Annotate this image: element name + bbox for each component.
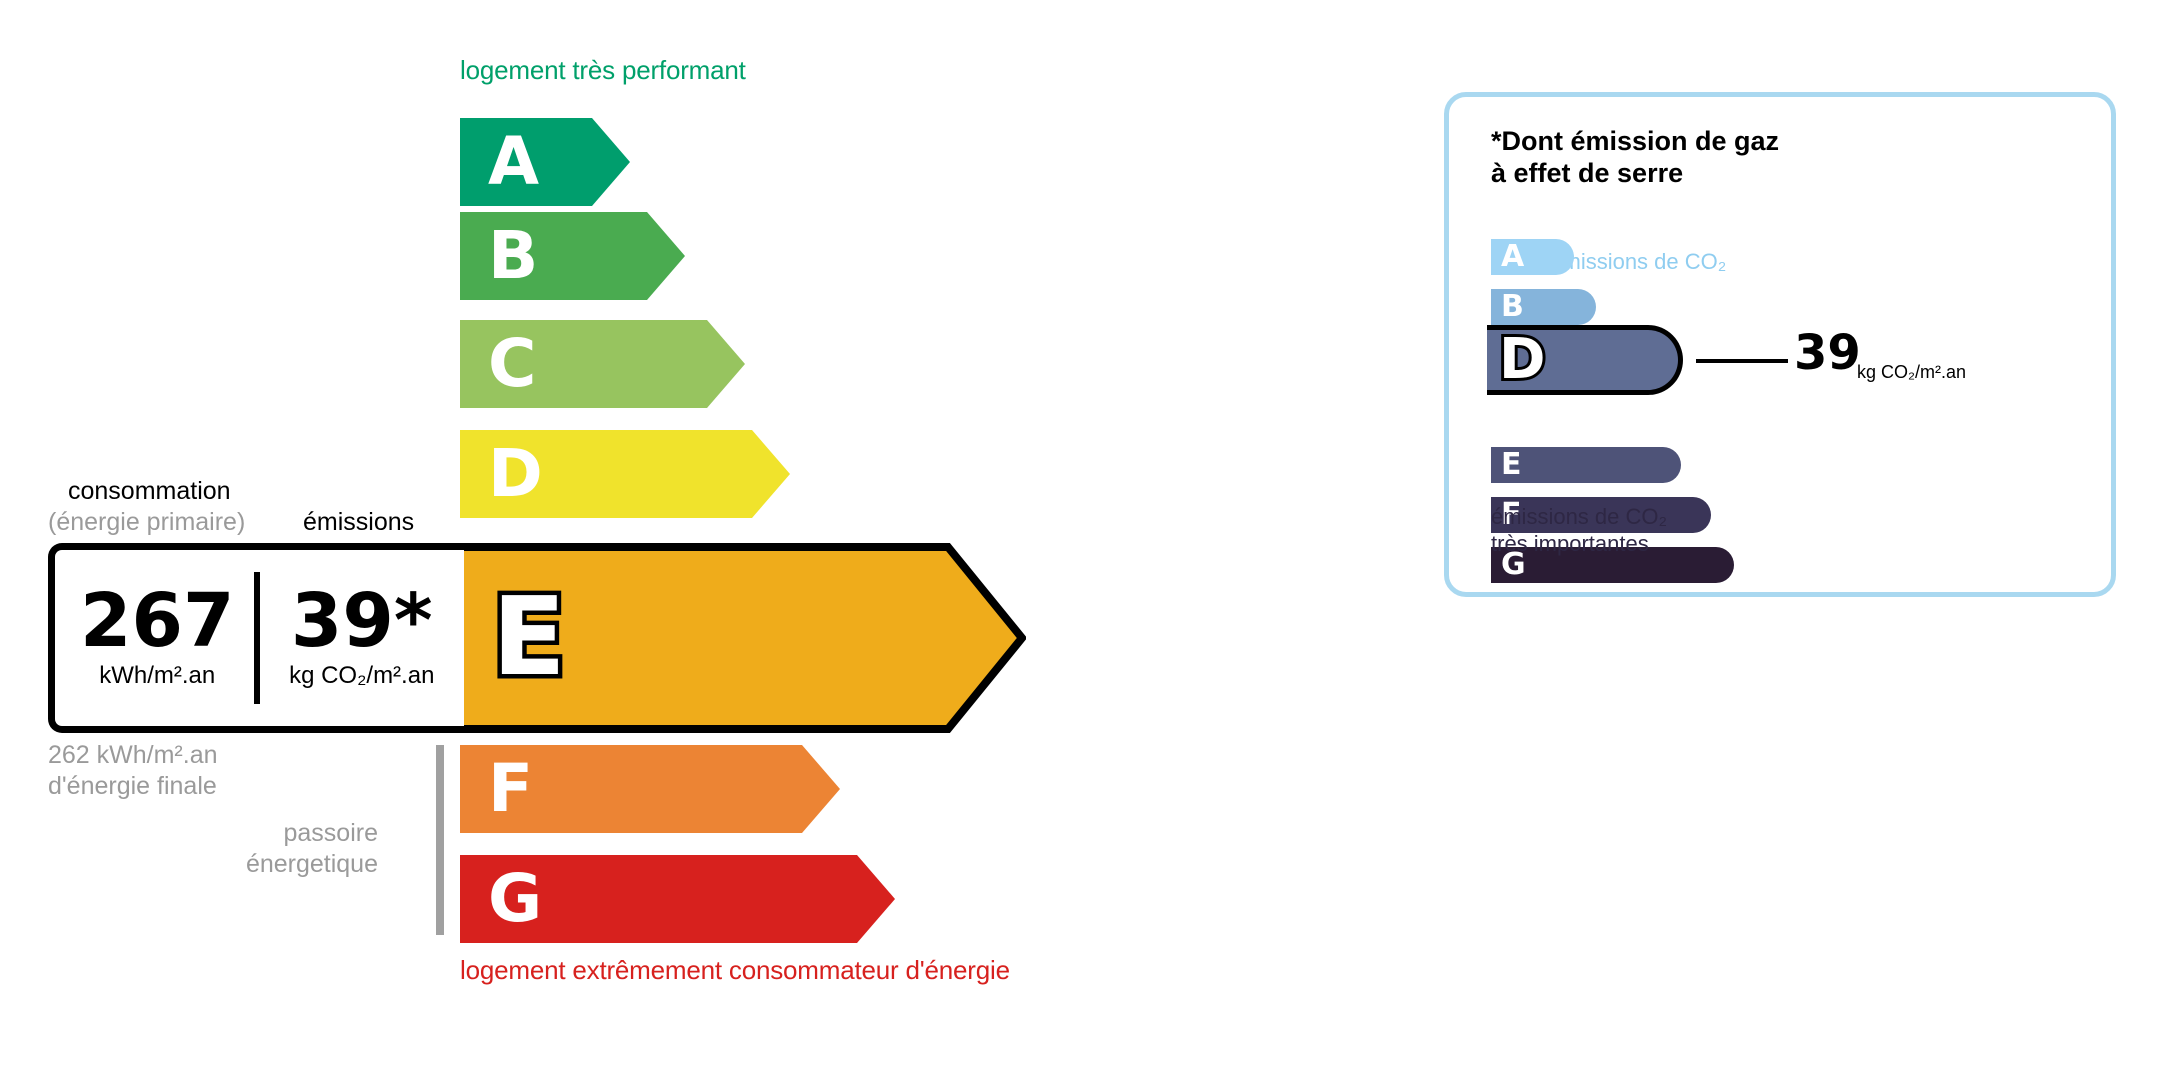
energy-bar-letter-b: B [488,223,538,289]
energy-bar-letter-d: D [488,441,543,507]
co2-bottom-caption-line1: émissions de CO₂ [1491,504,1667,531]
energy-bar-letter-f: F [488,756,533,822]
co2-selected-value: 39 [1794,329,1861,377]
energy-consumption-value: 267 [80,586,234,656]
co2-panel-title-line2: à effet de serre [1491,157,1779,189]
selected-class-letter: E [492,584,566,692]
label-energie-primaire: (énergie primaire) [48,508,245,537]
energy-chart-bottom-caption: logement extrêmement consommateur d'éner… [460,955,1010,986]
co2-panel-title: *Dont émission de gaz à effet de serre [1491,125,1779,190]
energy-bar-d: D [460,430,790,518]
co2-emissions-panel: *Dont émission de gaz à effet de serre p… [1444,92,2116,597]
energy-performance-chart: logement très performant ABCDFG consomma… [0,0,1400,1079]
energy-bar-letter-a: A [488,129,539,195]
selected-class-arrow: E [458,543,1026,733]
passoire-note-line2: énergetique [180,849,378,880]
co2-bar-e: E [1491,447,1681,483]
co2-selected-class-letter: D [1499,332,1545,388]
co2-panel-title-line1: *Dont émission de gaz [1491,125,1779,157]
energy-chart-top-caption: logement très performant [460,55,746,86]
co2-leader-line [1696,359,1788,363]
co2-bar-a: A [1491,239,1574,275]
final-energy-note-line1: 262 kWh/m².an [48,740,218,771]
co2-bottom-caption-line2: très importantes [1491,531,1667,558]
energy-consumption-unit: kWh/m².an [99,662,215,690]
energy-consumption-cell: 267 kWh/m².an [55,550,260,726]
energy-bar-letter-g: G [488,866,542,932]
co2-emission-cell: 39* kg CO₂/m².an [260,550,465,726]
energy-bar-a: A [460,118,630,206]
co2-emission-unit: kg CO₂/m².an [289,662,434,690]
label-emissions: émissions [303,508,414,537]
label-consommation: consommation [68,477,231,506]
co2-selected-unit: kg CO₂/m².an [1857,362,1966,383]
selected-energy-class-row: 267 kWh/m².an 39* kg CO₂/m².an E [48,543,1026,733]
energy-bar-f: F [460,745,840,833]
co2-bar-letter-a: A [1501,242,1524,272]
co2-bar-b: B [1491,289,1596,325]
final-energy-note: 262 kWh/m².an d'énergie finale [48,740,218,803]
passoire-energetique-indicator-bar [436,745,444,935]
passoire-energetique-note: passoire énergetique [180,818,378,879]
co2-bottom-caption: émissions de CO₂ très importantes [1491,504,1667,558]
co2-emission-value: 39* [291,586,433,656]
passoire-note-line1: passoire [180,818,378,849]
co2-bar-letter-e: E [1501,450,1522,480]
energy-bar-c: C [460,320,745,408]
energy-bar-b: B [460,212,685,300]
co2-selected-class-row: D [1487,325,1683,395]
co2-bar-letter-b: B [1501,292,1524,322]
energy-bar-g: G [460,855,895,943]
consumption-values-box: 267 kWh/m².an 39* kg CO₂/m².an [48,543,464,733]
energy-bar-letter-c: C [488,331,536,397]
final-energy-note-line2: d'énergie finale [48,771,218,802]
